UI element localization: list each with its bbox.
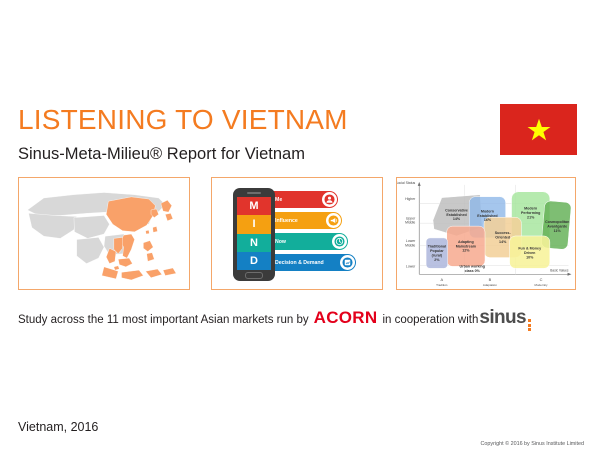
svg-text:Adaptation: Adaptation	[483, 283, 497, 287]
milieu-label-conservative-established: Conservative	[445, 208, 468, 212]
milieu-y-axis-title: Social Status	[397, 181, 416, 185]
svg-text:Avantgarde: Avantgarde	[547, 225, 567, 229]
svg-text:12%: 12%	[462, 249, 470, 253]
svg-text:Driven: Driven	[524, 251, 535, 255]
acorn-logo: ACORN	[314, 308, 378, 328]
phone-device: M I N D	[233, 188, 275, 281]
chart-icon	[340, 255, 355, 270]
milieu-x-axis-title: Basic Values	[550, 268, 569, 272]
svg-text:Established: Established	[446, 213, 466, 217]
milieu-label-modern-established: Modern	[481, 209, 494, 213]
panel-mind-model: Me Influence	[211, 177, 383, 290]
footer-location-year: Vietnam, 2016	[18, 420, 98, 434]
phone-speaker	[247, 192, 261, 194]
milieu-y-tick-higher: Higher	[405, 197, 416, 201]
svg-text:Established: Established	[477, 214, 497, 218]
milieu-x-tick-b: B	[489, 277, 492, 282]
mind-bar-me-label: Me	[275, 197, 282, 203]
mind-bars: Me Influence	[264, 191, 356, 275]
panel-milieu-chart: Social Status Higher Upper Middle Lower …	[396, 177, 576, 290]
svg-text:10%: 10%	[526, 256, 534, 260]
milieu-y-tick-lower: Lower	[406, 264, 416, 268]
megaphone-icon	[326, 213, 341, 228]
sinus-logo-dots-icon	[528, 319, 531, 331]
svg-text:(rural): (rural)	[432, 254, 443, 258]
svg-text:Middle: Middle	[405, 243, 415, 247]
phone-letter-i: I	[237, 215, 271, 233]
svg-text:Mainstream: Mainstream	[456, 244, 476, 248]
mind-bar-now: Now	[264, 233, 348, 250]
milieu-x-tick-c: C	[540, 277, 543, 282]
phone-letter-m: M	[237, 197, 271, 215]
page-subtitle: Sinus-Meta-Milieu® Report for Vietnam	[18, 145, 305, 164]
phone-letter-d: D	[237, 252, 271, 270]
svg-text:Oriented: Oriented	[495, 235, 510, 239]
mind-bar-decision-demand-label: Decision & Demand	[275, 260, 324, 266]
svg-text:14%: 14%	[499, 240, 507, 244]
phone-screen: M I N D	[237, 197, 271, 270]
milieu-label-urban-working-class: Urban working	[460, 264, 485, 268]
milieu-label-success-oriented: Success-	[495, 231, 512, 235]
sinus-logo-word: sinus	[479, 307, 526, 329]
study-description-line: Study across the 11 most important Asian…	[18, 307, 531, 332]
milieu-y-tick-lower-middle: Lower	[406, 239, 416, 243]
slide-root: LISTENING TO VIETNAM Sinus-Meta-Milieu® …	[0, 0, 600, 450]
study-text-part1: Study across the 11 most important Asian…	[18, 314, 309, 326]
milieu-label-traditional-popular: Traditional	[428, 245, 446, 249]
svg-text:16%: 16%	[484, 218, 492, 222]
svg-text:Modernity: Modernity	[535, 283, 548, 287]
mind-bar-influence-label: Influence	[275, 218, 298, 224]
svg-text:Performing: Performing	[521, 211, 540, 215]
svg-text:2%: 2%	[434, 258, 440, 262]
asia-map-graphic	[19, 178, 189, 289]
mind-bar-influence: Influence	[264, 212, 342, 229]
mind-bar-me: Me	[264, 191, 338, 208]
svg-text:class 0%: class 0%	[465, 269, 481, 273]
milieu-label-modern-performing: Modern	[524, 206, 537, 210]
milieu-y-tick-upper-middle: Upper	[406, 216, 416, 220]
panel-asia-map	[18, 177, 190, 290]
phone-home-button	[245, 272, 263, 279]
person-icon	[322, 192, 337, 207]
milieu-label-adapting-mainstream: Adapting	[458, 240, 474, 244]
milieu-x-tick-a: A	[440, 277, 443, 282]
page-title: LISTENING TO VIETNAM	[18, 104, 348, 136]
study-text-part2: in cooperation with	[382, 314, 478, 326]
milieu-chart-graphic: Social Status Higher Upper Middle Lower …	[397, 178, 575, 289]
mind-bar-now-label: Now	[275, 239, 286, 245]
svg-text:Tradition: Tradition	[436, 283, 448, 287]
sinus-logo: sinus	[479, 307, 530, 332]
vietnam-flag-icon	[500, 104, 577, 155]
footer-copyright: Copyright © 2016 by Sinus Institute Limi…	[481, 441, 584, 447]
svg-text:11%: 11%	[554, 229, 562, 233]
svg-text:Popular: Popular	[430, 249, 444, 253]
svg-text:Middle: Middle	[405, 221, 415, 225]
svg-text:21%: 21%	[527, 215, 535, 219]
svg-text:14%: 14%	[453, 217, 461, 221]
milieu-label-cosmopolitan-avantgarde: Cosmopolitan	[545, 220, 569, 224]
clock-icon	[332, 234, 347, 249]
mind-bar-decision-demand: Decision & Demand	[264, 254, 356, 271]
milieu-label-fun-money-driven: Fun & Money	[518, 247, 541, 251]
phone-letter-n: N	[237, 234, 271, 252]
